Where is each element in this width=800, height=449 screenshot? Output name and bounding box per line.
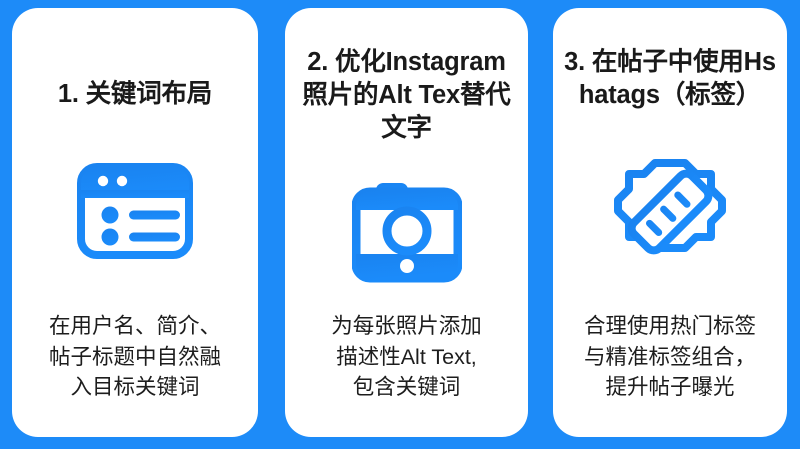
card-icon-slot <box>553 112 787 311</box>
card-keyword-layout[interactable]: 1. 关键词布局 <box>12 8 258 437</box>
card-alt-text[interactable]: 2. 优化Instagram照片的Alt Tex替代文字 <box>285 8 528 437</box>
hashtag-badge-icon <box>611 154 729 270</box>
card-body-text: 在用户名、简介、 帖子标题中自然融 入目标关键词 <box>12 311 258 437</box>
infographic-canvas: 1. 关键词布局 <box>0 0 800 449</box>
card-body-text: 合理使用热门标签 与精准标签组合， 提升帖子曝光 <box>553 311 787 437</box>
card-title: 1. 关键词布局 <box>12 8 258 111</box>
card-title: 3. 在帖子中使用Hshatags（标签） <box>553 8 787 112</box>
card-hashtags[interactable]: 3. 在帖子中使用Hshatags（标签） <box>553 8 787 437</box>
card-body-text: 为每张照片添加 描述性Alt Text, 包含关键词 <box>285 311 528 437</box>
card-title: 2. 优化Instagram照片的Alt Tex替代文字 <box>285 8 528 145</box>
cards-row: 1. 关键词布局 <box>0 0 800 449</box>
camera-icon <box>352 172 462 284</box>
card-icon-slot <box>12 111 258 311</box>
card-icon-slot <box>285 145 528 311</box>
browser-list-icon <box>77 163 193 259</box>
